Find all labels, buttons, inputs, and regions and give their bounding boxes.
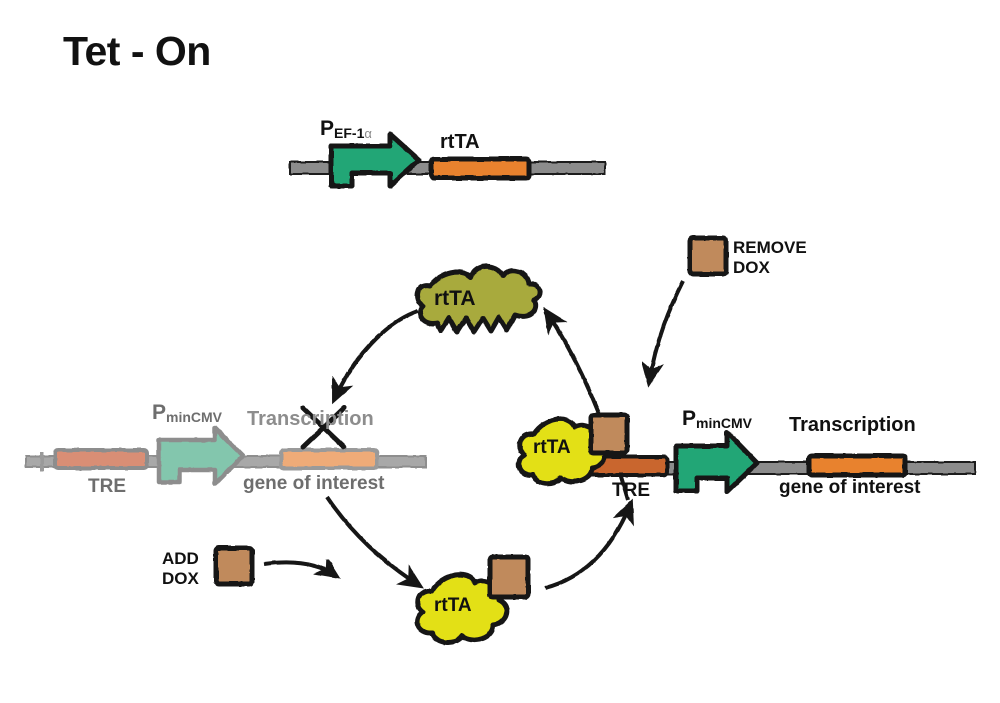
- add-dox-line2: DOX: [162, 569, 199, 589]
- diagram-artwork: [0, 0, 1000, 703]
- arrow-to-on-construct: [545, 503, 631, 588]
- promoter-subscript: minCMV: [166, 409, 222, 425]
- arrow-off-to-dox: [327, 497, 420, 586]
- promoter-base: P: [152, 401, 166, 424]
- page-title: Tet - On: [63, 31, 211, 72]
- add-dox-label: ADD DOX: [162, 549, 199, 588]
- tre-label-off: TRE: [88, 477, 126, 496]
- transcription-label-off: Transcription: [247, 409, 374, 429]
- gene-of-interest-label-on: gene of interest: [779, 478, 920, 497]
- protein-label-rtta-dna-bound: rtTA: [533, 438, 571, 457]
- promoter-base: P: [320, 117, 334, 140]
- tre-label-on: TRE: [612, 481, 650, 500]
- remove-dox-line1: REMOVE: [733, 238, 807, 258]
- promoter-label-ef1a: PEF-1α: [320, 118, 372, 140]
- gene-label-rtta: rtTA: [440, 132, 480, 152]
- promoter-label-mincmv-on: PminCMV: [682, 408, 752, 430]
- promoter-label-mincmv-off: PminCMV: [152, 402, 222, 424]
- promoter-subscript: minCMV: [696, 415, 752, 431]
- arrow-to-off-construct: [334, 311, 418, 400]
- dox-molecule-add: [216, 548, 252, 584]
- arrow-add-dox: [264, 562, 337, 576]
- diagram-canvas: Tet - On PEF-1α rtTA rtTA rtTA rtTA REMO…: [0, 0, 1000, 703]
- transcription-label-on: Transcription: [789, 415, 916, 435]
- arrow-remove-dox: [649, 281, 683, 383]
- dox-molecule-remove: [690, 238, 726, 274]
- protein-label-rtta-dox-bound: rtTA: [434, 596, 472, 615]
- protein-label-rtta-inactive: rtTA: [434, 288, 476, 309]
- alpha-symbol: α: [364, 126, 372, 141]
- promoter-base: P: [682, 407, 696, 430]
- remove-dox-label: REMOVE DOX: [733, 238, 807, 277]
- add-dox-line1: ADD: [162, 549, 199, 569]
- gene-of-interest-label-off: gene of interest: [243, 474, 384, 493]
- promoter-subscript: EF-1: [334, 125, 364, 141]
- remove-dox-line2: DOX: [733, 258, 807, 278]
